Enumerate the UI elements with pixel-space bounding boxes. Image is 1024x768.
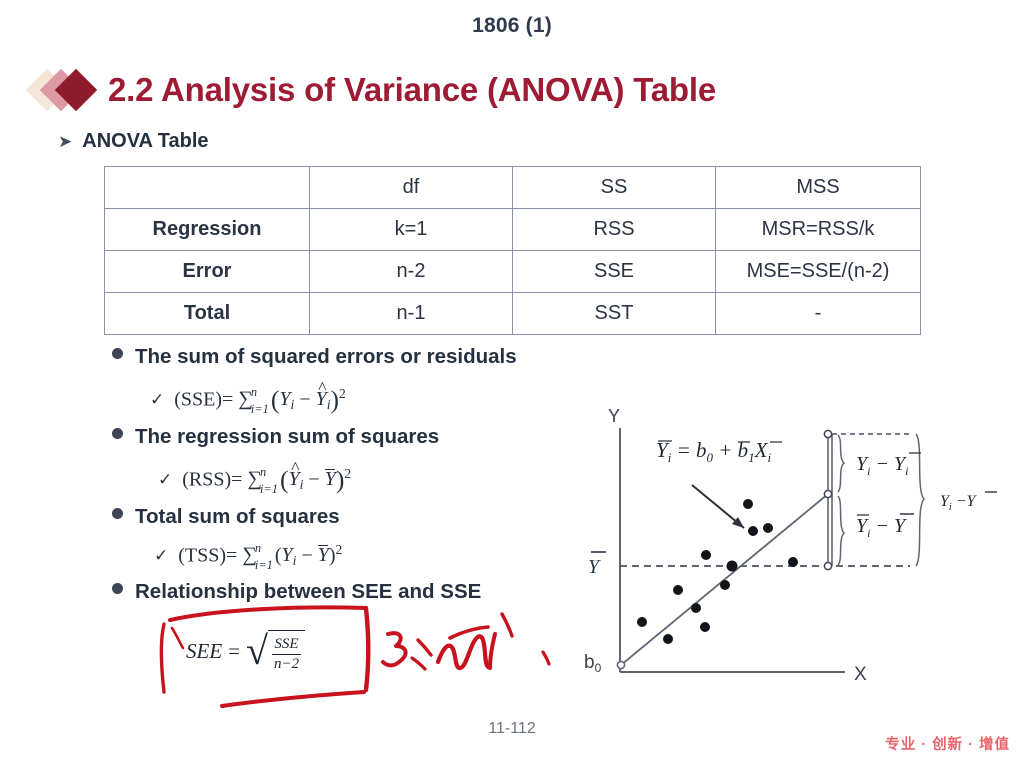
subitem-rss-formula: ✓ (RSS)= ∑ni=1(Yi − Y)2 [158, 465, 351, 495]
section-heading-label: ANOVA Table [82, 130, 208, 153]
bullet-item-see-relation: Relationship between SEE and SSE [112, 580, 481, 604]
mean-label: Y [588, 556, 601, 578]
regression-line [621, 494, 828, 665]
decomposition-segment [828, 434, 832, 566]
intercept-label: b0 [584, 652, 602, 675]
brace-residual [838, 435, 844, 492]
table-row: Regression k=1 RSS MSR=RSS/k [105, 209, 921, 251]
cell-regression-mss: MSR=RSS/k [716, 209, 921, 251]
subitem-sse-formula: ✓ (SSE)= ∑ni=1(Yi − Yi)2 [150, 385, 346, 415]
x-axis-label: X [854, 664, 867, 685]
row-label-regression: Regression [105, 209, 310, 251]
fraction-denominator: n−2 [272, 655, 301, 672]
column-header-df: df [310, 167, 513, 209]
slide-canvas: 1806 (1) 2.2 Analysis of Variance (ANOVA… [0, 0, 1024, 768]
y-axis-label: Y [608, 406, 620, 426]
brace-label-residual: Yi − Yi [856, 453, 908, 478]
regression-scatter-diagram: Y X b0 Y [580, 400, 1024, 700]
formula-tss: (TSS)= ∑ni=1(Yi − Y)2 [178, 542, 342, 569]
cell-regression-ss: RSS [513, 209, 716, 251]
table-header-row: df SS MSS [105, 167, 921, 209]
header-text: 1806 (1) [472, 14, 552, 37]
radical-icon: √ SSE n−2 [246, 628, 305, 674]
slide-header: 1806 (1) [0, 14, 1024, 38]
round-bullet-icon [112, 348, 123, 359]
check-bullet-icon: ✓ [158, 470, 172, 490]
table-row: Total n-1 SST - [105, 293, 921, 335]
brace-label-explained: Yi − Y [856, 515, 907, 540]
formula-sse: (SSE)= ∑ni=1(Yi − Yi)2 [174, 385, 346, 415]
bullet-label-tss: Total sum of squares [135, 505, 340, 529]
brace-total [916, 434, 924, 566]
formula-rss-label: (RSS)= [182, 468, 242, 490]
anova-table: df SS MSS Regression k=1 RSS MSR=RSS/k E… [104, 166, 921, 335]
bullet-item-sse: The sum of squared errors or residuals [112, 345, 517, 369]
fraction-sse-over-n2: SSE n−2 [268, 630, 305, 676]
formula-see: SEE = √ SSE n−2 [186, 628, 305, 674]
subitem-tss-formula: ✓ (TSS)= ∑ni=1(Yi − Y)2 [154, 542, 342, 569]
column-header-ss: SS [513, 167, 716, 209]
page-title: 2.2 Analysis of Variance (ANOVA) Table [108, 71, 716, 109]
fitted-point-marker [824, 490, 831, 497]
round-bullet-icon [112, 508, 123, 519]
bullet-label-sse: The sum of squared errors or residuals [135, 345, 517, 369]
brand-watermark: 专业 · 创新 · 增值 [885, 733, 1010, 754]
diamond-cluster-icon [32, 67, 104, 113]
title-row: 2.2 Analysis of Variance (ANOVA) Table [32, 64, 716, 116]
cell-regression-df: k=1 [310, 209, 513, 251]
cell-total-ss: SST [513, 293, 716, 335]
scatter-points [637, 499, 798, 644]
round-bullet-icon [112, 583, 123, 594]
page-number-text: 11-112 [488, 720, 535, 737]
arrow-bullet-icon: ➤ [58, 133, 72, 150]
bullet-item-rss: The regression sum of squares [112, 425, 439, 449]
formula-tss-label: (TSS)= [178, 544, 237, 566]
footer-page-number: 11-112 [0, 720, 1024, 738]
section-heading: ➤ ANOVA Table [58, 130, 209, 153]
brace-label-total: Yi −Y [940, 493, 977, 513]
mean-point-marker [824, 562, 831, 569]
formula-see-equals: = [228, 639, 240, 664]
cell-error-ss: SSE [513, 251, 716, 293]
cell-total-df: n-1 [310, 293, 513, 335]
table-row: Error n-2 SSE MSE=SSE/(n-2) [105, 251, 921, 293]
formula-see-lhs: SEE [186, 639, 222, 664]
round-bullet-icon [112, 428, 123, 439]
cell-total-mss: - [716, 293, 921, 335]
regression-equation-label: Yi = b0 + b1Xi [656, 438, 771, 465]
bullet-label-rss: The regression sum of squares [135, 425, 439, 449]
brace-explained [838, 496, 844, 565]
cell-error-df: n-2 [310, 251, 513, 293]
observed-point-marker [824, 430, 831, 437]
cell-error-mss: MSE=SSE/(n-2) [716, 251, 921, 293]
table-corner-cell [105, 167, 310, 209]
fraction-numerator: SSE [272, 636, 300, 654]
row-label-error: Error [105, 251, 310, 293]
intercept-marker [617, 661, 624, 668]
check-bullet-icon: ✓ [150, 390, 164, 410]
row-label-total: Total [105, 293, 310, 335]
bullet-item-tss: Total sum of squares [112, 505, 340, 529]
bullet-label-see-relation: Relationship between SEE and SSE [135, 580, 481, 604]
formula-sse-label: (SSE)= [174, 388, 233, 410]
column-header-mss: MSS [716, 167, 921, 209]
formula-rss: (RSS)= ∑ni=1(Yi − Y)2 [182, 465, 351, 495]
radical-sign-icon: √ [246, 629, 268, 675]
check-bullet-icon: ✓ [154, 546, 168, 566]
